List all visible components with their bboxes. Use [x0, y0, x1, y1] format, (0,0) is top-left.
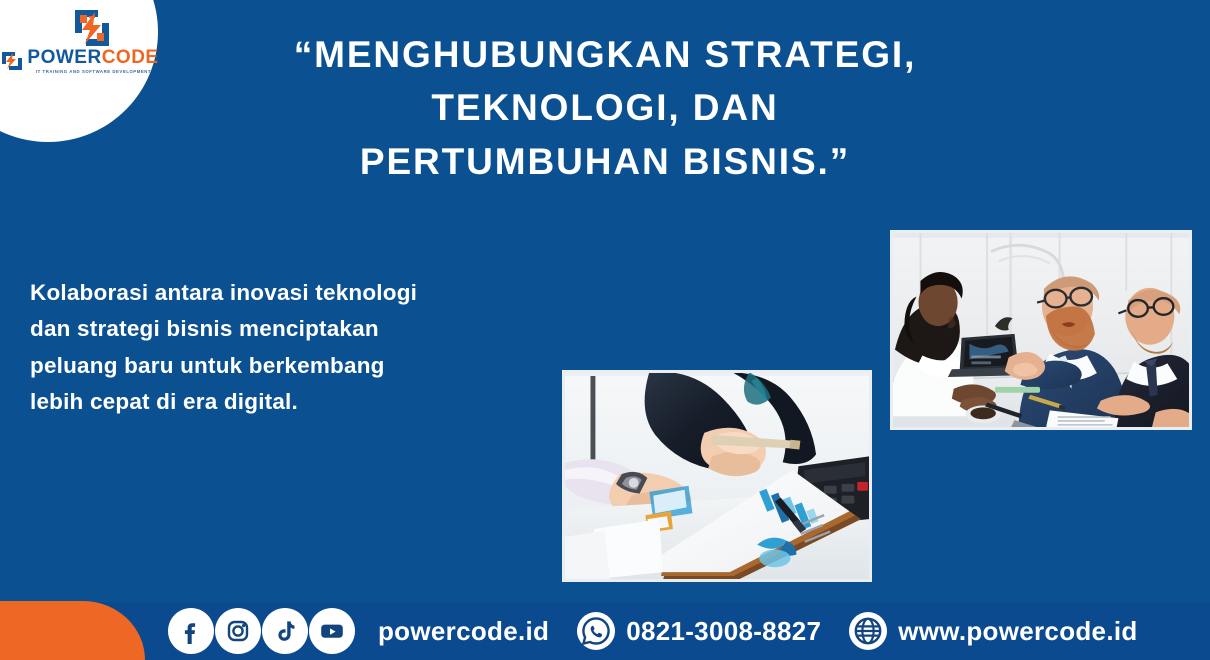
globe-icon[interactable] — [849, 612, 887, 650]
youtube-icon[interactable] — [309, 608, 355, 654]
body-line-1: Kolaborasi antara inovasi teknologi — [30, 275, 560, 311]
footer-content: powercode.id 0821-3008-8827 www.powercod… — [0, 602, 1210, 660]
social-handle[interactable]: powercode.id — [378, 616, 549, 647]
globe-glyph — [852, 615, 884, 647]
facebook-icon[interactable] — [168, 608, 214, 654]
facebook-glyph — [176, 616, 206, 646]
body-paragraph: Kolaborasi antara inovasi teknologi dan … — [30, 275, 560, 421]
headline-line-2: TEKNOLOGI, DAN — [190, 81, 1020, 134]
promotional-banner: POWERCODE IT TRAINING AND SOFTWARE DEVEL… — [0, 0, 1210, 660]
photo-business-meeting — [890, 230, 1192, 430]
powercode-logo[interactable]: POWERCODE IT TRAINING AND SOFTWARE DEVEL… — [4, 6, 154, 92]
whatsapp-number[interactable]: 0821-3008-8827 — [626, 616, 821, 647]
photo-business-meeting-art — [893, 233, 1189, 427]
tiktok-icon[interactable] — [262, 608, 308, 654]
headline-quote: “MENGHUBUNGKAN STRATEGI, TEKNOLOGI, DAN … — [190, 28, 1020, 188]
website-contact[interactable]: www.powercode.id — [849, 612, 1137, 650]
headline-line-3: PERTUMBUHAN BISNIS.” — [190, 135, 1020, 188]
tiktok-glyph — [270, 616, 300, 646]
powercode-bolt-mark-small — [0, 49, 25, 73]
powercode-bolt-mark — [68, 6, 116, 50]
whatsapp-glyph — [580, 615, 612, 647]
headline-line-1: “MENGHUBUNGKAN STRATEGI, — [190, 28, 1020, 81]
instagram-icon[interactable] — [215, 608, 261, 654]
social-icons-group — [168, 608, 356, 654]
photo-desk-documents-art — [565, 373, 869, 579]
body-line-3: peluang baru untuk berkembang — [30, 348, 560, 384]
body-line-2: dan strategi bisnis menciptakan — [30, 311, 560, 347]
whatsapp-contact[interactable]: 0821-3008-8827 — [577, 612, 821, 650]
photo-desk-documents — [562, 370, 872, 582]
logo-tagline: IT TRAINING AND SOFTWARE DEVELOPMENT — [35, 69, 150, 74]
body-line-4: lebih cepat di era digital. — [30, 384, 560, 420]
website-url[interactable]: www.powercode.id — [898, 616, 1137, 647]
logo-word-code: CODE — [102, 47, 159, 68]
logo-wordmark: POWERCODE — [27, 48, 158, 67]
youtube-glyph — [317, 616, 347, 646]
logo-word-power: POWER — [27, 47, 101, 68]
whatsapp-icon[interactable] — [577, 612, 615, 650]
instagram-glyph — [223, 616, 253, 646]
